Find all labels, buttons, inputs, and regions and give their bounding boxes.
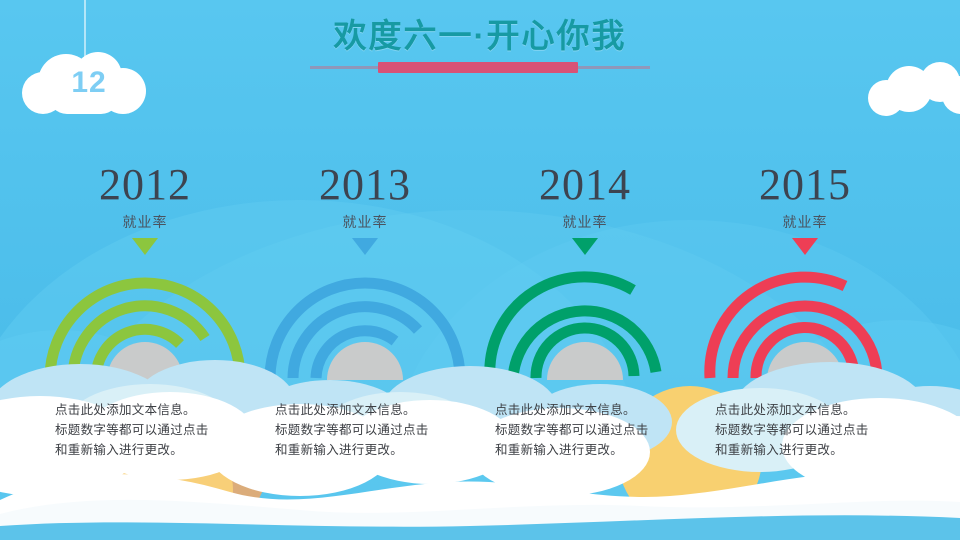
metric-label: 就业率 <box>695 212 915 232</box>
caption-line: 标题数字等都可以通过点击 <box>275 420 490 440</box>
caption-line: 标题数字等都可以通过点击 <box>715 420 930 440</box>
down-triangle-icon <box>352 238 378 255</box>
metric-label: 就业率 <box>35 212 255 232</box>
down-triangle-icon <box>132 238 158 255</box>
caption-overlay-2013: 点击此处添加文本信息。 标题数字等都可以通过点击 和重新输入进行更改。 <box>275 400 490 460</box>
caption-line: 点击此处添加文本信息。 <box>275 400 490 420</box>
year-label: 2013 <box>255 160 475 210</box>
down-triangle-icon <box>572 238 598 255</box>
caption-line: 标题数字等都可以通过点击 <box>495 420 710 440</box>
caption-line: 点击此处添加文本信息。 <box>55 400 270 420</box>
corner-cloud-icon <box>868 62 960 116</box>
caption-line: 和重新输入进行更改。 <box>275 440 490 460</box>
year-label: 2015 <box>695 160 915 210</box>
caption-line: 和重新输入进行更改。 <box>55 440 270 460</box>
caption-overlay-2012: 点击此处添加文本信息。 标题数字等都可以通过点击 和重新输入进行更改。 <box>55 400 270 460</box>
badge-number: 12 <box>22 52 152 114</box>
year-label: 2014 <box>475 160 695 210</box>
column-header-2015: 2015 就业率 <box>695 160 915 255</box>
metric-label: 就业率 <box>255 212 475 232</box>
metric-label: 就业率 <box>475 212 695 232</box>
caption-line: 和重新输入进行更改。 <box>715 440 930 460</box>
column-header-2012: 2012 就业率 <box>35 160 255 255</box>
column-header-2014: 2014 就业率 <box>475 160 695 255</box>
caption-line: 标题数字等都可以通过点击 <box>55 420 270 440</box>
column-header-2013: 2013 就业率 <box>255 160 475 255</box>
title-accent-bar <box>378 62 578 73</box>
year-label: 2012 <box>35 160 255 210</box>
slide-canvas: 12 欢度六一·开心你我 2012 就业率 点击此处添加文本信息。 标题数字等都… <box>0 0 960 540</box>
caption-line: 点击此处添加文本信息。 <box>495 400 710 420</box>
title-divider <box>310 66 650 69</box>
caption-line: 和重新输入进行更改。 <box>495 440 710 460</box>
caption-line: 点击此处添加文本信息。 <box>715 400 930 420</box>
caption-overlay-2014: 点击此处添加文本信息。 标题数字等都可以通过点击 和重新输入进行更改。 <box>495 400 710 460</box>
down-triangle-icon <box>792 238 818 255</box>
caption-overlay-2015: 点击此处添加文本信息。 标题数字等都可以通过点击 和重新输入进行更改。 <box>715 400 930 460</box>
